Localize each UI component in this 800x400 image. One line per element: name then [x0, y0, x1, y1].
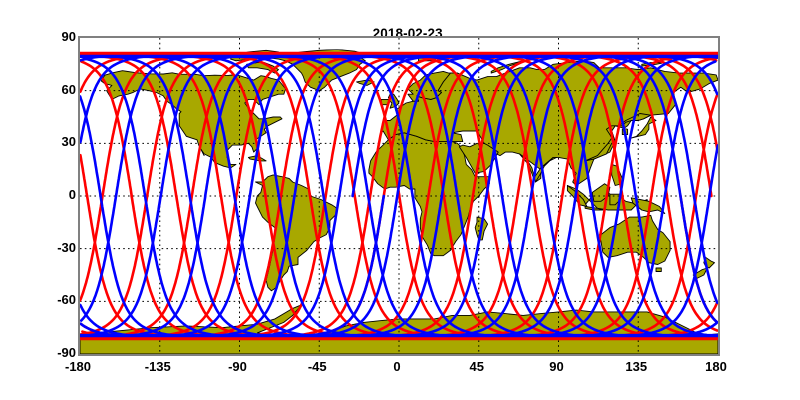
y-tick-label--30: -30 [36, 241, 76, 254]
plot-area [78, 36, 720, 356]
landmass-tasmania [656, 268, 661, 272]
x-tick-label-135: 135 [606, 360, 666, 373]
x-tick-label-45: 45 [447, 360, 507, 373]
ground-track-daytime-0 [80, 155, 87, 196]
y-tick-label-60: 60 [36, 83, 76, 96]
x-tick-label-180: 180 [686, 360, 746, 373]
x-tick-label--45: -45 [287, 360, 347, 373]
ground-track-nighttime-8-b [709, 146, 717, 197]
map-canvas [80, 38, 718, 354]
y-tick-label--90: -90 [36, 346, 76, 359]
y-tick-label--60: -60 [36, 293, 76, 306]
x-tick-label-0: 0 [367, 360, 427, 373]
x-tick-label--135: -135 [128, 360, 188, 373]
y-tick-label-0: 0 [36, 188, 76, 201]
x-tick-label-90: 90 [527, 360, 587, 373]
y-tick-label-30: 30 [36, 135, 76, 148]
y-tick-label-90: 90 [36, 30, 76, 43]
x-tick-label--180: -180 [48, 360, 108, 373]
ground-track-map: 2018-02-23 Version: 5.00 Standard Red is… [0, 0, 800, 400]
x-tick-label--90: -90 [208, 360, 268, 373]
